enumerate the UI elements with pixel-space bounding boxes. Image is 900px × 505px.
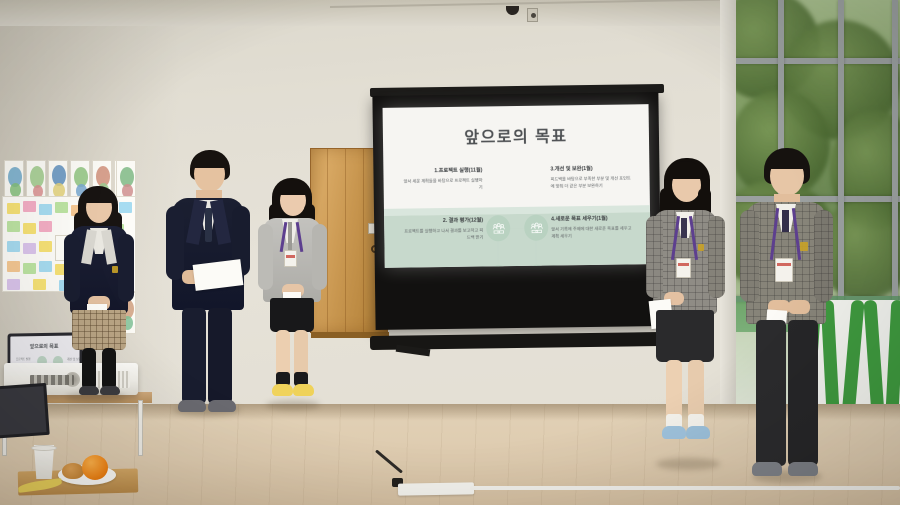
diagram-node-2 [524, 215, 548, 241]
power-strip[interactable] [398, 482, 474, 495]
student-1 [62, 186, 140, 404]
ceiling [0, 0, 760, 26]
student-4-id-badge [676, 258, 691, 278]
student-3-id-badge [284, 250, 297, 267]
slide-content-grid: 1.프로젝트 실행(11월) 앞서 세운 계획들을 바탕으로 프로젝트 실행하기 [397, 152, 636, 255]
presentation-slide: 앞으로의 목표 1.프로젝트 실행(11월) 앞서 세운 계획들을 바탕으로 프… [383, 104, 651, 268]
screen-surface: 앞으로의 목표 1.프로젝트 실행(11월) 앞서 세운 계획들을 바탕으로 프… [372, 92, 661, 330]
second-laptop[interactable] [0, 383, 50, 439]
slide-item-3: 3.개선 및 보완(1월) 피드백을 바탕으로 부족한 부분 및 개선 포인트에… [547, 166, 635, 191]
student-4-slipper-right [686, 426, 710, 439]
student-3 [260, 178, 330, 412]
student-5-slipper-right [788, 462, 818, 476]
slide-item-2-heading: 2. 결과 평가(12월) [401, 218, 483, 227]
student-2 [166, 150, 254, 418]
slide-item-4: 4.새로운 목표 세우기(1월) 앞서 기록에 주제에 대한 새로운 목표를 세… [548, 216, 636, 241]
student-3-slipper-right [293, 384, 314, 396]
laptop-note-left: 프로젝트 실행 [16, 358, 35, 362]
slide-item-3-body: 피드백을 바탕으로 부족한 부분 및 개선 포인트에 맞춰 더 같은 부분 보완… [551, 175, 633, 190]
extension-cable [470, 486, 900, 490]
student-5-id-badge [775, 258, 793, 282]
diagram-node-1 [486, 215, 510, 241]
student-4 [648, 158, 732, 478]
slide-item-2: 2. 결과 평가(12월) 프로젝트를 실행하고 나서 결과를 보고하고 피드백… [398, 218, 486, 243]
slide-item-4-heading: 4.새로운 목표 세우기(1월) [551, 216, 633, 225]
slide-item-4-body: 앞서 기록에 주제에 대한 새로운 목표를 세우고 계획 세우기 [551, 225, 633, 240]
slide-item-3-heading: 3.개선 및 보완(1월) [550, 166, 632, 175]
student-5 [742, 148, 834, 490]
bread-roll [62, 463, 84, 479]
slide-item-2-body: 프로젝트를 실행하고 나서 결과를 보고하고 피드백 받기 [401, 227, 483, 242]
slide-item-1: 1.프로젝트 실행(11월) 앞서 세운 계획들을 바탕으로 프로젝트 실행하기 [397, 168, 485, 193]
projection-screen: 앞으로의 목표 1.프로젝트 실행(11월) 앞서 세운 계획들을 바탕으로 프… [374, 92, 660, 342]
paper-cup-rim [31, 445, 57, 451]
student-3-slipper-left [272, 384, 293, 396]
student-5-slipper-left [752, 462, 782, 476]
student-4-slipper-left [662, 426, 686, 439]
orange-fruit [82, 455, 108, 480]
slide-title: 앞으로의 목표 [383, 121, 649, 149]
slide-item-1-body: 앞서 세운 계획들을 바탕으로 프로젝트 실행하기 [401, 177, 483, 192]
classroom-scene: 앞으로의 목표 1.프로젝트 실행(11월) 앞서 세운 계획들을 바탕으로 프… [0, 0, 900, 505]
slide-diagram [486, 204, 548, 205]
wall-sensor-icon [527, 8, 538, 22]
slide-item-1-heading: 1.프로젝트 실행(11월) [400, 168, 482, 177]
